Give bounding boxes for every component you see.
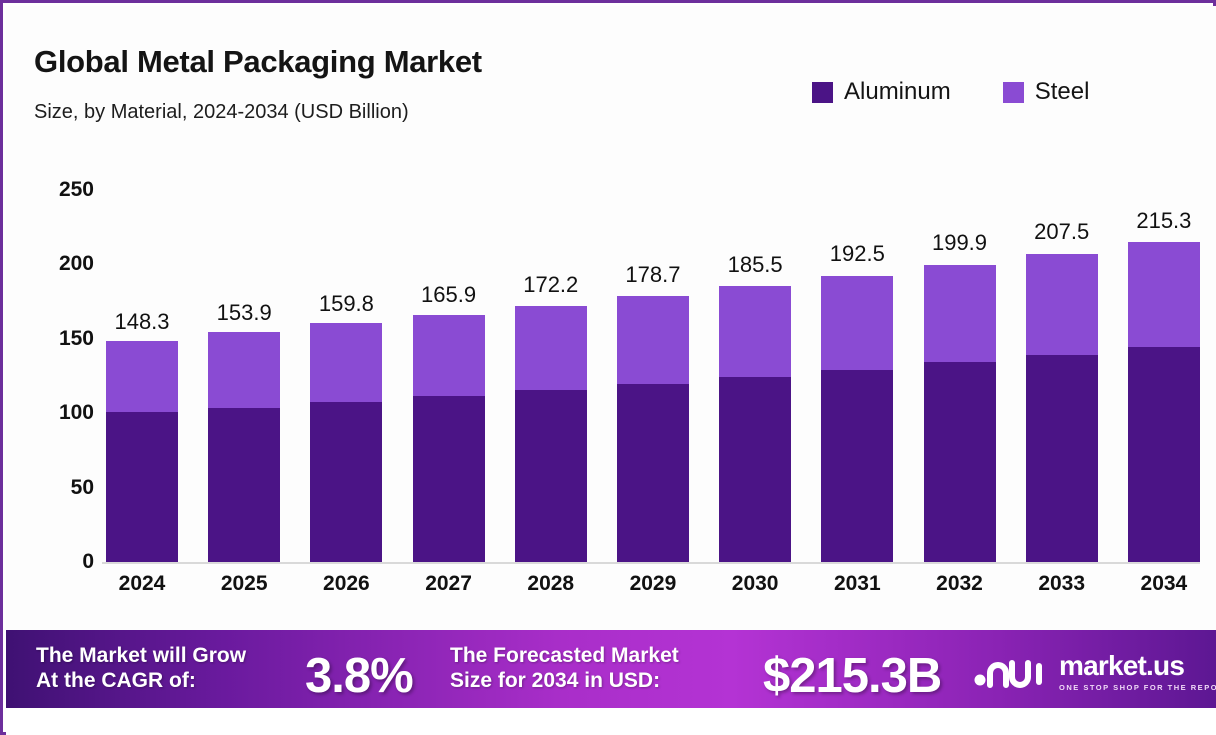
bar-segment-steel bbox=[1128, 242, 1200, 347]
forecast-caption-line2: Size for 2034 in USD: bbox=[450, 669, 679, 694]
bar-segment-steel bbox=[719, 286, 791, 377]
bar-segment-aluminum bbox=[821, 370, 893, 562]
bar-column-2034[interactable]: 215.3 bbox=[1128, 6, 1200, 562]
logo-name: market.us bbox=[1059, 652, 1216, 680]
x-tick-2030: 2030 bbox=[719, 572, 791, 596]
cagr-caption: The Market will Grow At the CAGR of: bbox=[36, 644, 246, 694]
forecast-value: $215.3B bbox=[763, 648, 941, 704]
y-tick-0: 0 bbox=[82, 550, 94, 574]
bar-segment-aluminum bbox=[1128, 347, 1200, 562]
y-tick-50: 50 bbox=[71, 476, 94, 500]
x-tick-2025: 2025 bbox=[208, 572, 280, 596]
x-axis-line bbox=[102, 562, 1200, 564]
cagr-caption-line1: The Market will Grow bbox=[36, 644, 246, 669]
forecast-caption: The Forecasted Market Size for 2034 in U… bbox=[450, 644, 679, 694]
bar-column-2031[interactable]: 192.5 bbox=[821, 6, 893, 562]
bar-total-label: 207.5 bbox=[1034, 219, 1089, 245]
cagr-value-text: 3.8% bbox=[305, 648, 413, 704]
cagr-value: 3.8% bbox=[305, 648, 413, 704]
bar-segment-steel bbox=[924, 265, 996, 362]
logo-tagline: ONE STOP SHOP FOR THE REPORTS bbox=[1059, 683, 1216, 692]
bar-total-label: 159.8 bbox=[319, 291, 374, 317]
bar-segment-steel bbox=[617, 296, 689, 384]
bar-segment-steel bbox=[515, 306, 587, 390]
bar-column-2029[interactable]: 178.7 bbox=[617, 6, 689, 562]
bar-column-2032[interactable]: 199.9 bbox=[924, 6, 996, 562]
x-axis-labels: 2024 2025 2026 2027 2028 2029 2030 2031 … bbox=[106, 572, 1200, 596]
bar-column-2026[interactable]: 159.8 bbox=[310, 6, 382, 562]
bar-segment-steel bbox=[413, 315, 485, 396]
plot-area: 250 200 150 100 50 0 148.3 153.9 bbox=[6, 6, 1216, 626]
x-tick-2026: 2026 bbox=[310, 572, 382, 596]
bar-segment-steel bbox=[310, 323, 382, 402]
bar-column-2028[interactable]: 172.2 bbox=[515, 6, 587, 562]
bar-total-label: 153.9 bbox=[217, 300, 272, 326]
bar-segment-aluminum bbox=[310, 402, 382, 562]
bar-segment-steel bbox=[821, 276, 893, 370]
x-tick-2029: 2029 bbox=[617, 572, 689, 596]
bar-segment-aluminum bbox=[924, 362, 996, 562]
cagr-caption-line2: At the CAGR of: bbox=[36, 669, 246, 694]
y-tick-200: 200 bbox=[59, 252, 94, 276]
x-tick-2027: 2027 bbox=[413, 572, 485, 596]
bar-total-label: 185.5 bbox=[728, 252, 783, 278]
bar-segment-aluminum bbox=[719, 377, 791, 562]
x-tick-2024: 2024 bbox=[106, 572, 178, 596]
bar-segment-aluminum bbox=[413, 396, 485, 562]
y-axis: 250 200 150 100 50 0 bbox=[6, 6, 102, 626]
bar-segment-aluminum bbox=[617, 384, 689, 562]
x-tick-2031: 2031 bbox=[821, 572, 893, 596]
x-tick-2032: 2032 bbox=[924, 572, 996, 596]
bar-total-label: 215.3 bbox=[1136, 208, 1191, 234]
bar-segment-steel bbox=[1026, 254, 1098, 355]
bar-segment-aluminum bbox=[106, 412, 178, 562]
bar-total-label: 172.2 bbox=[523, 272, 578, 298]
forecast-value-text: $215.3B bbox=[763, 648, 941, 704]
y-tick-150: 150 bbox=[59, 327, 94, 351]
y-tick-250: 250 bbox=[59, 178, 94, 202]
market-us-logo[interactable]: market.us ONE STOP SHOP FOR THE REPORTS bbox=[974, 652, 1216, 692]
bar-total-label: 165.9 bbox=[421, 282, 476, 308]
bar-segment-aluminum bbox=[208, 408, 280, 562]
y-tick-100: 100 bbox=[59, 401, 94, 425]
bar-total-label: 178.7 bbox=[625, 262, 680, 288]
bar-total-label: 192.5 bbox=[830, 241, 885, 267]
banner-base-strip bbox=[6, 708, 1216, 735]
x-tick-2034: 2034 bbox=[1128, 572, 1200, 596]
bar-column-2033[interactable]: 207.5 bbox=[1026, 6, 1098, 562]
bar-column-2027[interactable]: 165.9 bbox=[413, 6, 485, 562]
bar-column-2025[interactable]: 153.9 bbox=[208, 6, 280, 562]
bar-segment-steel bbox=[208, 332, 280, 408]
chart-canvas: Global Metal Packaging Market Size, by M… bbox=[6, 6, 1216, 735]
bar-segment-steel bbox=[106, 341, 178, 412]
bar-column-2024[interactable]: 148.3 bbox=[106, 6, 178, 562]
footer-banner: The Market will Grow At the CAGR of: 3.8… bbox=[6, 630, 1216, 708]
x-tick-2028: 2028 bbox=[515, 572, 587, 596]
market-us-logo-icon bbox=[974, 654, 1050, 690]
bar-column-2030[interactable]: 185.5 bbox=[719, 6, 791, 562]
x-tick-2033: 2033 bbox=[1026, 572, 1098, 596]
bar-group: 148.3 153.9 159.8 165.9 bbox=[106, 6, 1200, 562]
market-us-logo-text: market.us ONE STOP SHOP FOR THE REPORTS bbox=[1059, 652, 1216, 692]
bar-total-label: 199.9 bbox=[932, 230, 987, 256]
bar-segment-aluminum bbox=[515, 390, 587, 562]
chart-frame: Global Metal Packaging Market Size, by M… bbox=[0, 0, 1216, 735]
bar-total-label: 148.3 bbox=[114, 309, 169, 335]
forecast-caption-line1: The Forecasted Market bbox=[450, 644, 679, 669]
bar-segment-aluminum bbox=[1026, 355, 1098, 562]
